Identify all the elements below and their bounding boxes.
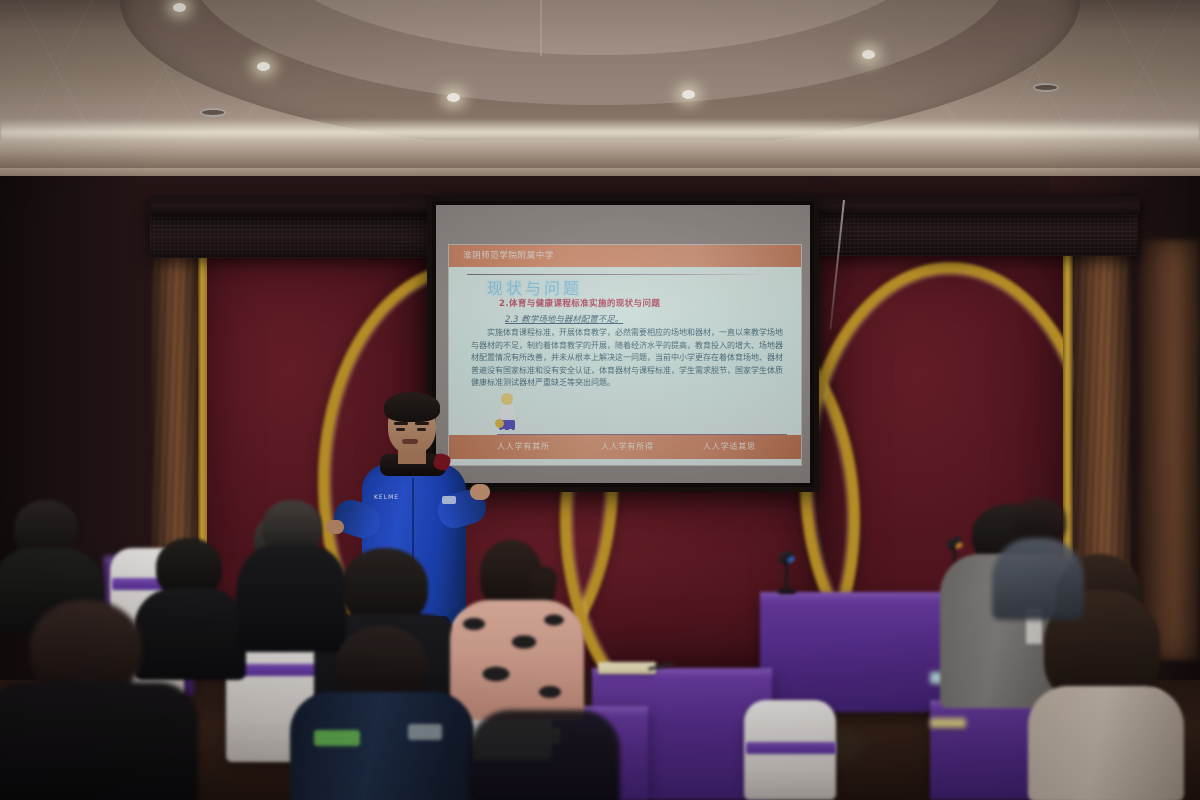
recessed-downlight bbox=[682, 90, 695, 99]
recessed-downlight bbox=[257, 62, 270, 71]
microphone-stand bbox=[785, 560, 788, 594]
presenter-jacket-brand-text: KELME bbox=[374, 494, 399, 501]
audience-shoulders bbox=[0, 682, 198, 800]
recessed-downlight bbox=[862, 50, 875, 59]
jacket-logo-text bbox=[408, 724, 442, 740]
stage-valance-left bbox=[150, 210, 430, 258]
conference-hall-photo: 淮阴师范学院附属中学 现状与问题 2.体育与健康课程标准实施的现状与问题 2.3… bbox=[0, 0, 1200, 800]
slide-body-text: 实施体育课程标准，开展体育教学，必然需要相应的场地和器材，一直以来教学场地与器材… bbox=[471, 327, 783, 390]
valance-mesh-texture bbox=[150, 210, 430, 258]
clipart-head bbox=[501, 393, 513, 405]
purple-chair-sash bbox=[746, 742, 836, 754]
presenter-hair bbox=[384, 392, 440, 422]
jacket-logo-text bbox=[314, 730, 360, 746]
presenter-eyebrow bbox=[415, 422, 429, 425]
table-microphone bbox=[778, 552, 798, 594]
attendee-notebook bbox=[930, 718, 966, 728]
student-with-ball-clipart bbox=[495, 393, 519, 439]
ceiling-air-vent bbox=[1033, 83, 1059, 92]
audience-shoulders bbox=[470, 710, 620, 800]
presenter-right-hand bbox=[470, 484, 490, 500]
slide-slogan-1: 人人学有其所 bbox=[497, 441, 550, 452]
presenter-sleeve-badge bbox=[442, 496, 456, 504]
audience-member bbox=[452, 540, 582, 720]
audience-member bbox=[296, 626, 466, 800]
audience-member bbox=[0, 600, 180, 800]
audience-beige-coat bbox=[1028, 686, 1184, 800]
presenter-mouth bbox=[402, 439, 418, 444]
slide-subsection-heading: 2.3 教学场地与器材配置不足。 bbox=[505, 313, 623, 325]
slide-title: 现状与问题 bbox=[487, 275, 582, 299]
audience-shoulders bbox=[992, 538, 1084, 620]
slide-school-name: 淮阴师范学院附属中学 bbox=[463, 249, 554, 261]
presenter-eyebrow bbox=[394, 422, 408, 425]
purple-draped-table bbox=[760, 592, 950, 712]
presenter-eye bbox=[396, 428, 405, 431]
slide-slogan-3: 人人学适其思 bbox=[703, 441, 756, 452]
recessed-downlight bbox=[447, 93, 460, 102]
slide-section-heading: 2.体育与健康课程标准实施的现状与问题 bbox=[499, 297, 660, 309]
recessed-downlight bbox=[173, 3, 186, 12]
ceiling-hanging-wire bbox=[540, 0, 542, 56]
slide-footer-band: 人人学有其所 人人学有所得 人人学适其思 bbox=[449, 435, 801, 459]
audience-member bbox=[470, 700, 620, 800]
audience-member bbox=[992, 498, 1084, 618]
audience-logo-jacket bbox=[290, 692, 474, 800]
slide-slogan-2: 人人学有所得 bbox=[601, 441, 654, 452]
projection-screen: 淮阴师范学院附属中学 现状与问题 2.体育与健康课程标准实施的现状与问题 2.3… bbox=[436, 205, 810, 483]
ceiling-air-vent bbox=[200, 108, 226, 117]
presentation-slide: 淮阴师范学院附属中学 现状与问题 2.体育与健康课程标准实施的现状与问题 2.3… bbox=[449, 245, 801, 465]
clipart-ball bbox=[495, 419, 504, 428]
presenter-eye bbox=[417, 428, 426, 431]
